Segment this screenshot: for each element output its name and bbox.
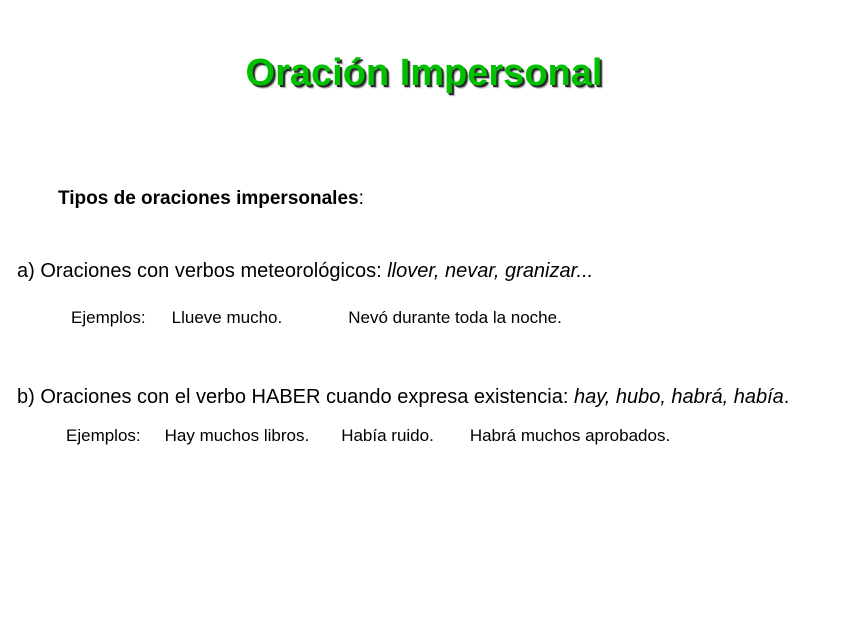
slide-canvas: Oración Impersonal Tipos de oraciones im… [0,0,848,635]
example-b-item-2: Había ruido. [341,426,434,445]
example-b-item-1: Hay muchos libros. [165,426,310,445]
rule-item-b: b) Oraciones con el verbo HABER cuando e… [17,385,789,409]
examples-a-label: Ejemplos: [71,308,146,328]
subtitle-heading: Tipos de oraciones impersonales: [58,188,364,211]
rule-a-text: a) Oraciones con verbos meteorológicos: [17,260,387,282]
rule-a-italic-verbs: llover, nevar, granizar... [387,260,593,282]
rule-b-text: b) Oraciones con el verbo HABER cuando e… [17,386,574,408]
rule-item-a: a) Oraciones con verbos meteorológicos: … [17,259,593,283]
slide-body: Tipos de oraciones impersonales: a) Orac… [0,0,848,635]
examples-row-a: Ejemplos:Llueve mucho.Nevó durante toda … [71,308,562,328]
rule-b-italic-verbs: hay, hubo, habrá, había [574,386,784,408]
example-a-item-1: Llueve mucho. [172,308,283,327]
examples-row-b: Ejemplos:Hay muchos libros.Había ruido.H… [66,426,670,446]
subtitle-heading-colon: : [359,188,364,209]
examples-b-label: Ejemplos: [66,426,141,446]
subtitle-heading-label: Tipos de oraciones impersonales [58,188,359,209]
rule-b-trailing: . [784,386,790,408]
example-a-item-2: Nevó durante toda la noche. [348,308,562,327]
example-b-item-3: Habrá muchos aprobados. [470,426,670,445]
